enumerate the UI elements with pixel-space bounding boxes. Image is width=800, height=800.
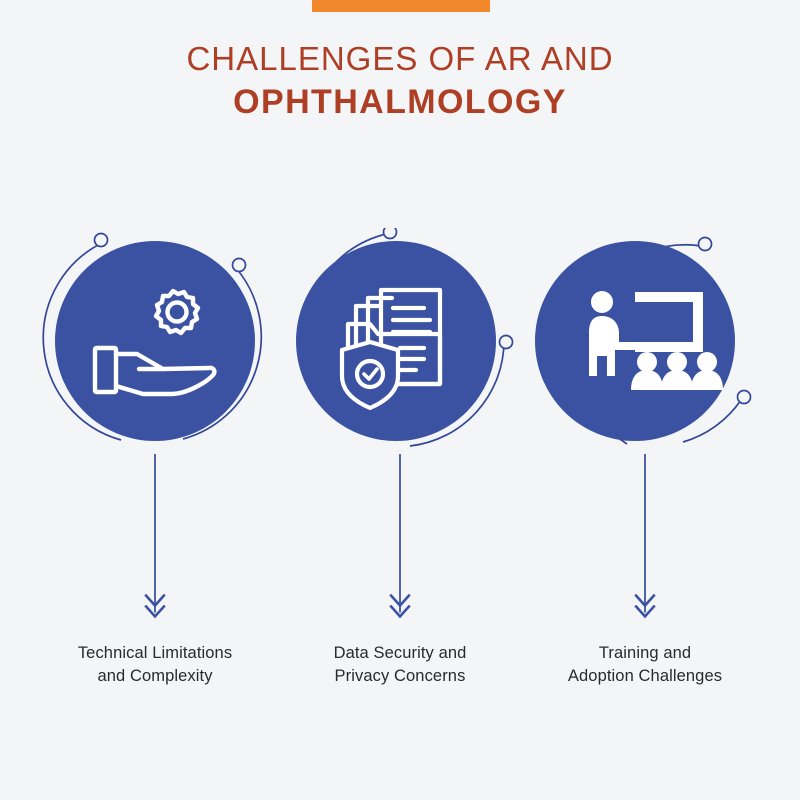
title-line-1: CHALLENGES OF AR AND: [0, 38, 800, 80]
challenge-caption-3: Training and Adoption Challenges: [568, 642, 722, 688]
top-accent-bar: [312, 0, 490, 12]
challenge-item-1[interactable]: Technical Limitations and Complexity: [33, 228, 277, 688]
connector-arrow-1: [143, 454, 167, 634]
challenge-item-2[interactable]: Data Security and Privacy Concerns: [278, 228, 522, 688]
page-title: CHALLENGES OF AR AND OPHTHALMOLOGY: [0, 38, 800, 124]
connector-arrow-3: [633, 454, 657, 634]
challenge-item-3[interactable]: Training and Adoption Challenges: [523, 228, 767, 688]
icon-badge-3: [523, 228, 767, 456]
title-line-2: OPHTHALMOLOGY: [0, 80, 800, 124]
hand-holding-gear-icon: [33, 228, 277, 458]
challenge-caption-1: Technical Limitations and Complexity: [78, 642, 232, 688]
challenge-caption-2: Data Security and Privacy Concerns: [334, 642, 467, 688]
icon-badge-2: [278, 228, 522, 456]
icon-badge-1: [33, 228, 277, 456]
document-folder-shield-icon: [278, 228, 522, 458]
challenge-columns: Technical Limitations and Complexity: [0, 228, 800, 688]
trainer-whiteboard-audience-icon: [523, 228, 767, 458]
connector-arrow-2: [388, 454, 412, 634]
